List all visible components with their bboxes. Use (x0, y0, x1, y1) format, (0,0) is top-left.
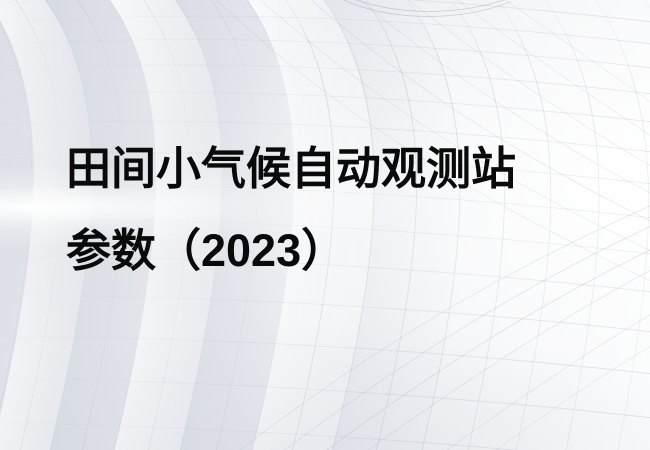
title-block: 田间小气候自动观测站 参数（2023） (66, 128, 606, 292)
title-banner: 田间小气候自动观测站 参数（2023） (0, 0, 650, 450)
title-line-1: 田间小气候自动观测站 (66, 128, 606, 210)
title-line-2: 参数（2023） (66, 210, 606, 292)
